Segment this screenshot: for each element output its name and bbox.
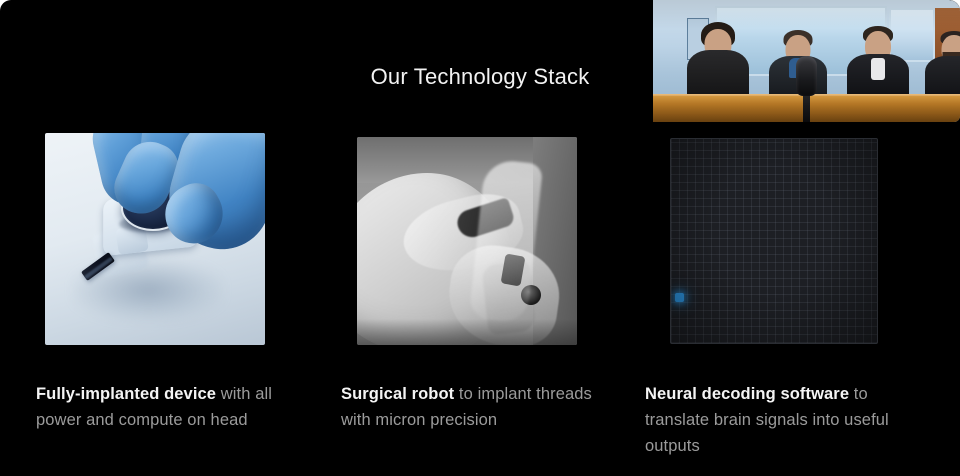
presenter-1 bbox=[687, 22, 749, 100]
caption-decoder-lead: Neural decoding software bbox=[645, 385, 849, 403]
presenter-3 bbox=[847, 26, 909, 100]
implant-device-photo bbox=[45, 133, 265, 345]
presenter-4 bbox=[925, 30, 960, 100]
caption-implant: Fully-implanted device with all power an… bbox=[36, 381, 318, 433]
caption-robot-lead: Surgical robot bbox=[341, 385, 454, 403]
floor-shadow bbox=[357, 319, 577, 345]
decoder-vignette bbox=[671, 139, 877, 343]
decoder-cursor-target[interactable] bbox=[675, 293, 684, 302]
microphone-icon bbox=[796, 56, 817, 96]
caption-implant-lead: Fully-implanted device bbox=[36, 385, 216, 403]
surgical-robot-photo bbox=[357, 137, 577, 345]
slide-surface: Our Technology Stack Fully-implanted dev… bbox=[0, 0, 960, 476]
presenter-webcam-feed[interactable] bbox=[653, 0, 960, 122]
presentation-slide: Our Technology Stack Fully-implanted dev… bbox=[0, 0, 960, 476]
presenter-1-torso bbox=[687, 50, 749, 100]
caption-decoder: Neural decoding software to translate br… bbox=[645, 381, 927, 459]
caption-robot: Surgical robot to implant threads with m… bbox=[341, 381, 613, 433]
presenter-3-shirt bbox=[871, 58, 885, 80]
neural-decoding-grid bbox=[670, 138, 878, 344]
